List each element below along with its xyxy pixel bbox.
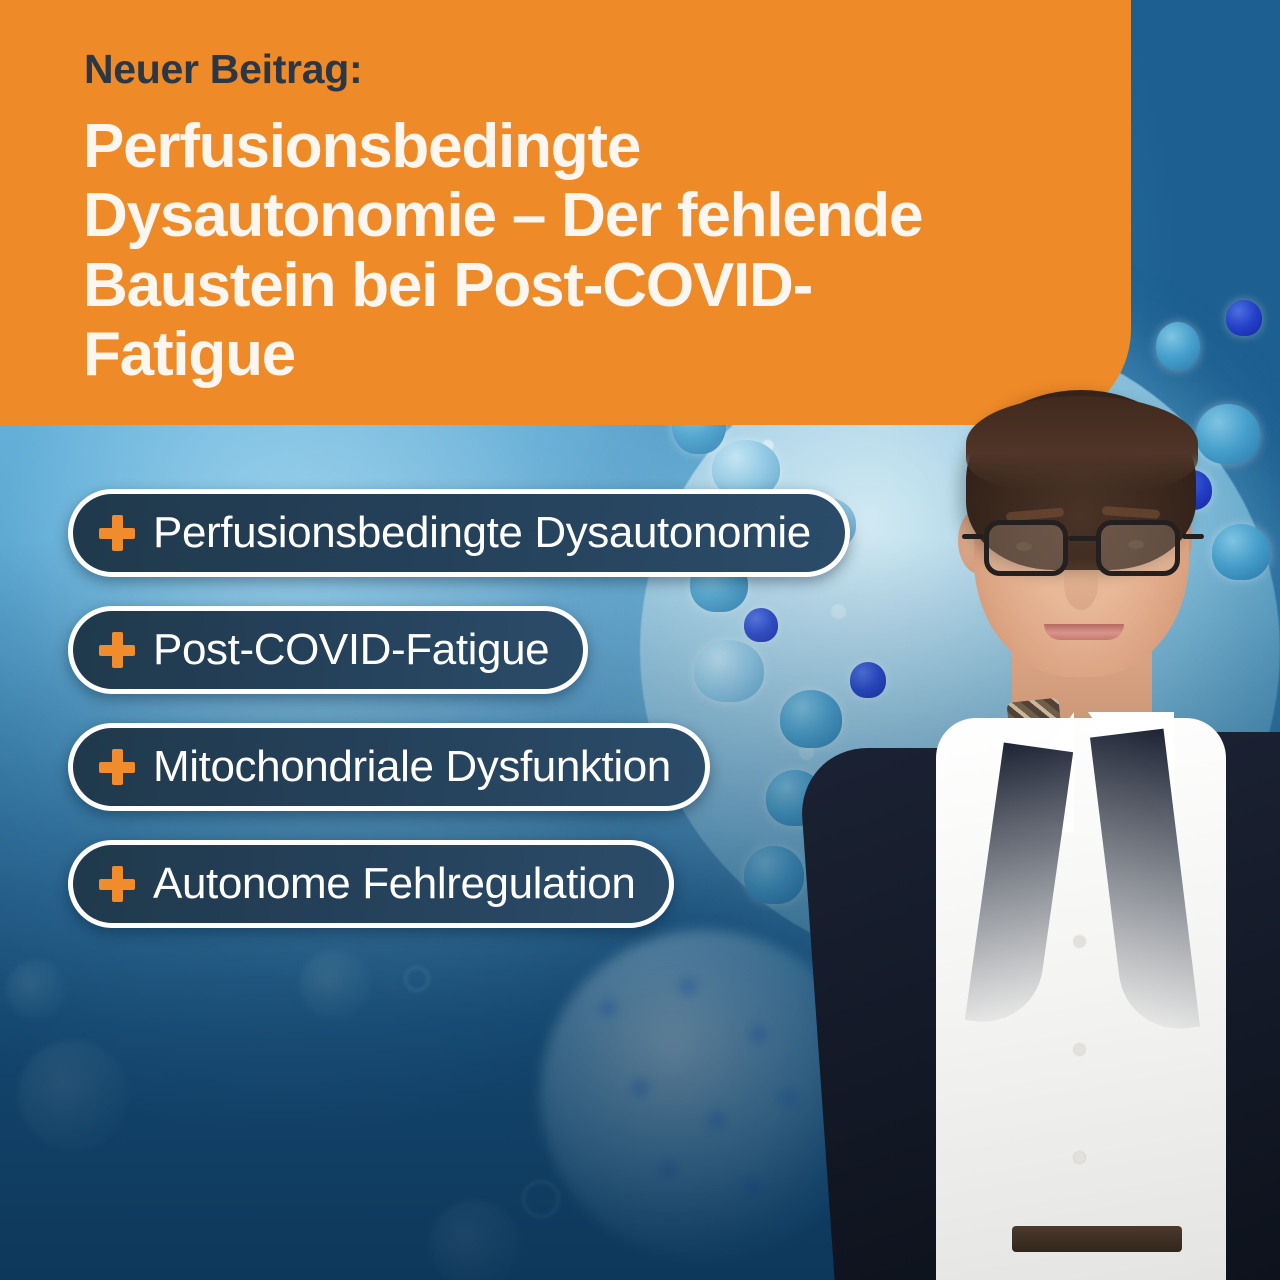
- page-title-line: Perfusionsbedingte: [83, 112, 1073, 181]
- social-post-card: Neuer Beitrag: Perfusionsbedingte Dysaut…: [0, 0, 1280, 1280]
- topic-pill-label: Post-COVID-Fatigue: [153, 628, 549, 672]
- belt: [1012, 1226, 1182, 1252]
- mouth: [1044, 624, 1124, 640]
- eyeglass-bridge: [1068, 536, 1098, 541]
- shirt-button: [1074, 936, 1085, 947]
- topic-pill-label: Perfusionsbedingte Dysautonomie: [153, 511, 811, 555]
- plus-icon: [99, 632, 135, 668]
- shirt-button: [1074, 1152, 1085, 1163]
- page-title: Perfusionsbedingte Dysautonomie – Der fe…: [83, 112, 1073, 390]
- eyeglass-lens-right: [1096, 520, 1180, 576]
- eyeglass-lens-left: [984, 520, 1068, 576]
- page-title-line: Baustein bei Post-COVID-: [83, 251, 1073, 320]
- topic-pill-label: Autonome Fehlregulation: [153, 862, 635, 906]
- topic-pill-mitochondriale-dysfunktion[interactable]: Mitochondriale Dysfunktion: [68, 723, 710, 811]
- avatar: [816, 380, 1280, 1280]
- plus-icon: [99, 866, 135, 902]
- eyeglass-temple-left: [962, 534, 984, 539]
- topic-pill-post-covid-fatigue[interactable]: Post-COVID-Fatigue: [68, 606, 588, 694]
- topic-pill-perfusionsbedingte-dysautonomie[interactable]: Perfusionsbedingte Dysautonomie: [68, 489, 850, 577]
- eyeglasses-icon: [984, 520, 1184, 580]
- hairline: [966, 396, 1198, 492]
- kicker-label: Neuer Beitrag:: [84, 48, 362, 91]
- plus-icon: [99, 515, 135, 551]
- topic-pill-autonome-fehlregulation[interactable]: Autonome Fehlregulation: [68, 840, 674, 928]
- topic-pill-label: Mitochondriale Dysfunktion: [153, 745, 671, 789]
- shirt-button: [1074, 1044, 1085, 1055]
- eyeglass-temple-right: [1182, 534, 1204, 539]
- page-title-line: Dysautonomie – Der fehlende: [83, 181, 1073, 250]
- plus-icon: [99, 749, 135, 785]
- header-banner: Neuer Beitrag: Perfusionsbedingte Dysaut…: [0, 0, 1131, 425]
